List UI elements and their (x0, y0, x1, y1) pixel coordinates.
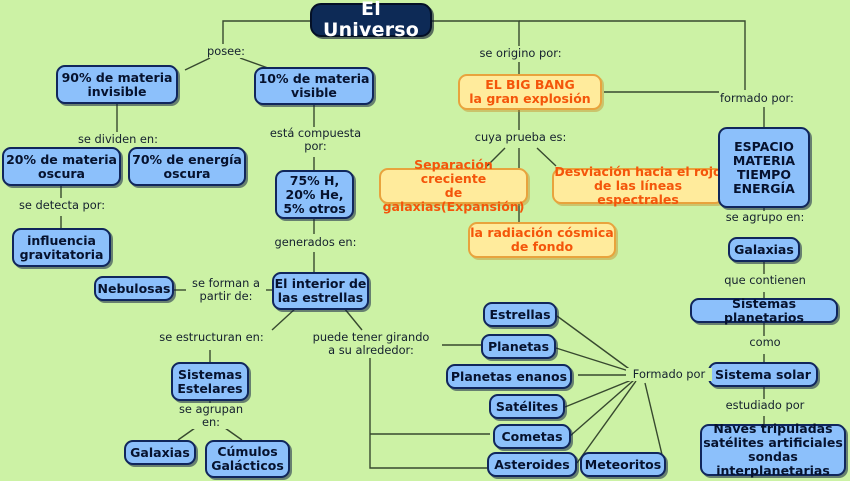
link-label-se-forman-a-partir-de: se forman a partir de: (186, 277, 266, 303)
node-sistemas-planetarios[interactable]: Sistemas planetarios (690, 298, 838, 323)
concept-map: El Universo 90% de materia invisible 10%… (0, 0, 850, 481)
link-label-se-agrupo-en: se agrupo en: (714, 211, 816, 224)
node-cumulos-galacticos[interactable]: Cúmulos Galácticos (205, 440, 290, 478)
link-label-generados-en: generados en: (272, 236, 359, 249)
root-node-title[interactable]: El Universo (310, 3, 432, 37)
link-label-se-estructuran-en: se estructuran en: (151, 331, 272, 344)
link-label-se-agrupan-en: se agrupan en: (173, 403, 249, 429)
node-cometas[interactable]: Cometas (493, 424, 571, 449)
node-sistema-solar[interactable]: Sistema solar (708, 362, 818, 387)
link-label-se-origino-por: se origino por: (472, 47, 569, 60)
node-nebulosas[interactable]: Nebulosas (94, 276, 174, 301)
link-label-posee: posee: (198, 45, 254, 58)
link-label-estudiado-por: estudiado por (714, 399, 816, 412)
link-label-formado-por-central: Formado por (626, 368, 712, 381)
link-label-esta-compuesta-por: está compuesta por: (265, 127, 366, 153)
link-label-formado-por-superior: formado por: (719, 92, 812, 105)
node-influencia-gravitatoria[interactable]: influencia gravitatoria (12, 228, 111, 267)
node-composicion-quimica[interactable]: 75% H, 20% He, 5% otros (275, 170, 354, 219)
link-label-cuya-prueba-es: cuya prueba es: (472, 131, 569, 144)
node-galaxias-izquierda[interactable]: Galaxias (124, 440, 196, 465)
node-sistemas-estelares[interactable]: Sistemas Estelares (171, 362, 249, 401)
node-desviacion-rojo[interactable]: Desviación hacia el rojo de las líneas e… (552, 168, 724, 204)
node-materia-invisible[interactable]: 90% de materia invisible (56, 65, 178, 104)
link-label-que-contienen: que contienen (714, 274, 816, 287)
node-galaxias-derecha[interactable]: Galaxias (728, 237, 800, 262)
node-planetas-enanos[interactable]: Planetas enanos (446, 364, 572, 389)
link-label-puede-tener-girando: puede tener girando a su alrededor: (300, 331, 442, 357)
node-radiacion-cosmica[interactable]: la radiación cósmica de fondo (468, 222, 616, 258)
node-big-bang[interactable]: EL BIG BANG la gran explosión (458, 74, 602, 110)
link-label-se-dividen-en: se dividen en: (67, 133, 169, 146)
node-materia-visible[interactable]: 10% de materia visible (254, 67, 374, 105)
node-meteoritos[interactable]: Meteoritos (580, 452, 666, 477)
node-estrellas[interactable]: Estrellas (483, 302, 557, 327)
link-label-como: como (734, 336, 796, 349)
node-materia-oscura[interactable]: 20% de materia oscura (2, 147, 121, 186)
node-naves-tripuladas[interactable]: Naves tripuladas satélites artificiales … (700, 424, 846, 476)
node-espacio-materia-tiempo-energia[interactable]: ESPACIO MATERIA TIEMPO ENERGÍA (718, 127, 810, 208)
node-planetas[interactable]: Planetas (481, 334, 556, 359)
link-label-se-detecta-por: se detecta por: (10, 199, 114, 212)
node-interior-estrellas[interactable]: El interior de las estrellas (272, 272, 369, 310)
node-asteroides[interactable]: Asteroides (487, 452, 577, 477)
node-satelites[interactable]: Satélites (489, 394, 565, 419)
node-separacion-galaxias[interactable]: Separación creciente de galaxias(Expansi… (379, 168, 528, 204)
node-energia-oscura[interactable]: 70% de energía oscura (128, 147, 246, 186)
